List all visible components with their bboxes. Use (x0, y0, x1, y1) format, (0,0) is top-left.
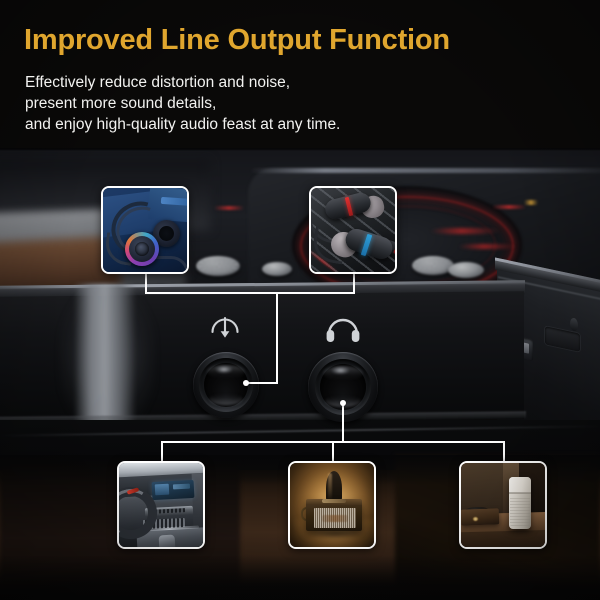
subtitle: Effectively reduce distortion and noise,… (25, 72, 340, 135)
inset-headphones-image (103, 188, 187, 272)
connector-stem-inset-car (161, 441, 163, 461)
inset-vintage-speaker[interactable] (288, 461, 376, 549)
connector-stem-inset-earphones (353, 274, 355, 294)
inset-earphones[interactable] (309, 186, 397, 274)
product-feature-banner: Improved Line Output Function Effectivel… (0, 0, 600, 600)
device-left-corner-highlight (74, 284, 136, 432)
inset-smart-speaker[interactable] (459, 461, 547, 549)
header: Improved Line Output Function Effectivel… (0, 0, 600, 168)
connector-stem-inset-headphones (145, 274, 147, 294)
inset-car-interior[interactable] (117, 461, 205, 549)
subtitle-line-1: Effectively reduce distortion and noise, (25, 72, 340, 93)
inset-car-interior-image (119, 463, 203, 547)
inset-headphones[interactable] (101, 186, 189, 274)
inset-earphones-image (311, 188, 395, 272)
line-out-icon (208, 308, 242, 344)
subtitle-line-3: and enjoy high-quality audio feast at an… (25, 114, 340, 135)
inset-vintage-speaker-image (290, 463, 374, 547)
bottom-fade (0, 555, 600, 600)
connector-elbow-line-out (246, 382, 278, 384)
line-out-port-specular (216, 366, 232, 373)
inset-smart-speaker-image (461, 463, 545, 547)
connector-dot-headphone (340, 400, 346, 406)
page-title: Improved Line Output Function (24, 24, 450, 57)
subtitle-line-2: present more sound details, (25, 93, 340, 114)
connector-stem-inset-smart-speaker (503, 441, 505, 461)
connector-bracket-top (145, 292, 355, 294)
connector-stem-inset-speaker (332, 441, 334, 461)
connector-drop-line-out (276, 292, 278, 384)
connector-dot-line-out (243, 380, 249, 386)
line-out-port-gloss-bottom (209, 393, 243, 405)
headphone-port-specular (332, 367, 349, 374)
headphone-icon (324, 312, 362, 344)
connector-drop-headphone (342, 403, 344, 443)
